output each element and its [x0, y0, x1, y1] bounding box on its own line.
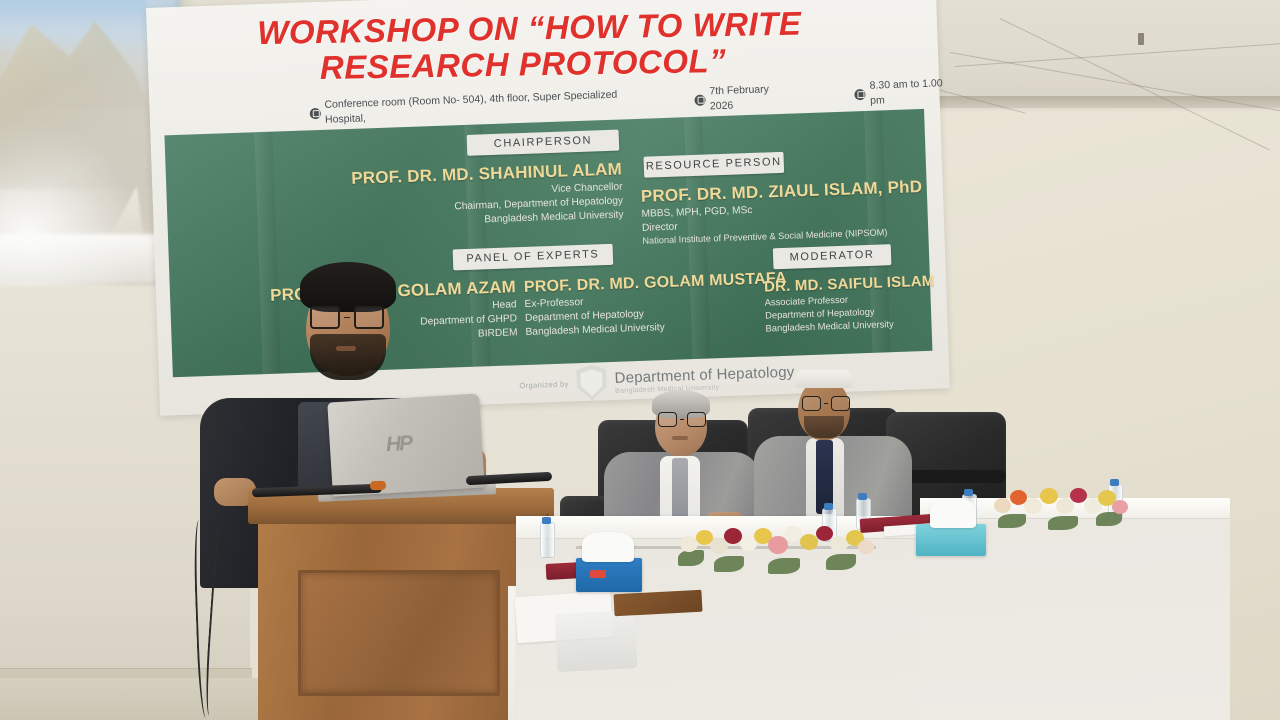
- laptop-lid[interactable]: HP: [327, 393, 484, 496]
- panelist-right-beard: [804, 416, 844, 438]
- organized-by-label: Organized by: [519, 379, 569, 390]
- chip-moderator: MODERATOR: [773, 244, 892, 269]
- speaker-glasses-icon: [310, 306, 384, 329]
- floor: [0, 678, 260, 720]
- shield-logo-icon: [576, 364, 607, 401]
- date-item: 7th February 2026: [694, 82, 785, 116]
- event-banner: WORKSHOP ON “HOW TO WRITE RESEARCH PROTO…: [146, 0, 950, 416]
- banner-title: WORKSHOP ON “HOW TO WRITE RESEARCH PROTO…: [257, 4, 948, 87]
- time-text: 8.30 am to 1.00 pm: [869, 76, 950, 109]
- flower-arrangement-center: [676, 524, 876, 572]
- flower-arrangement-right: [988, 486, 1138, 530]
- resource-person-block: PROF. DR. MD. ZIAUL ISLAM, PhD MBBS, MPH…: [641, 176, 943, 247]
- chairperson-block: PROF. DR. MD. SHAHINUL ALAM Vice Chancel…: [332, 159, 624, 231]
- location-pin-icon: [310, 108, 321, 119]
- water-bottle-1: [540, 522, 555, 558]
- podium-front-panel: [298, 570, 500, 696]
- podium-body: [258, 522, 534, 720]
- clock-icon: [855, 89, 866, 100]
- speaker-mouth: [336, 346, 356, 351]
- calendar-icon: [695, 94, 706, 105]
- plastic-bag: [555, 610, 638, 672]
- panelist-left-glasses-icon: [658, 412, 706, 427]
- panelist-right-glasses-icon: [802, 396, 850, 411]
- date-text: 7th February 2026: [709, 82, 785, 115]
- panelist-right-cap: [796, 370, 852, 388]
- projection-water: [0, 234, 166, 282]
- time-item: 8.30 am to 1.00 pm: [854, 76, 950, 110]
- conference-photo-scene: WORKSHOP ON “HOW TO WRITE RESEARCH PROTO…: [0, 0, 1280, 720]
- speaker-beard: [310, 334, 386, 380]
- tissue-sheet-left: [582, 532, 634, 562]
- tissue-box-label: [590, 570, 606, 578]
- microphone-left-tip: [370, 481, 386, 491]
- speaker-hair: [300, 262, 396, 312]
- tissue-box-right: [916, 524, 986, 556]
- tissue-box-left: [576, 558, 642, 592]
- organizer-text: Department of Hepatology Bangladesh Medi…: [614, 363, 795, 394]
- moderator-block: DR. MD. SAIFUL ISLAM Associate Professor…: [764, 270, 1026, 335]
- wooden-plaque: [613, 590, 702, 617]
- ceiling-fixture: [1138, 33, 1144, 45]
- hp-logo-icon: HP: [385, 431, 419, 459]
- panelist-left-mouth: [672, 436, 688, 440]
- tissue-sheet-right: [930, 498, 976, 528]
